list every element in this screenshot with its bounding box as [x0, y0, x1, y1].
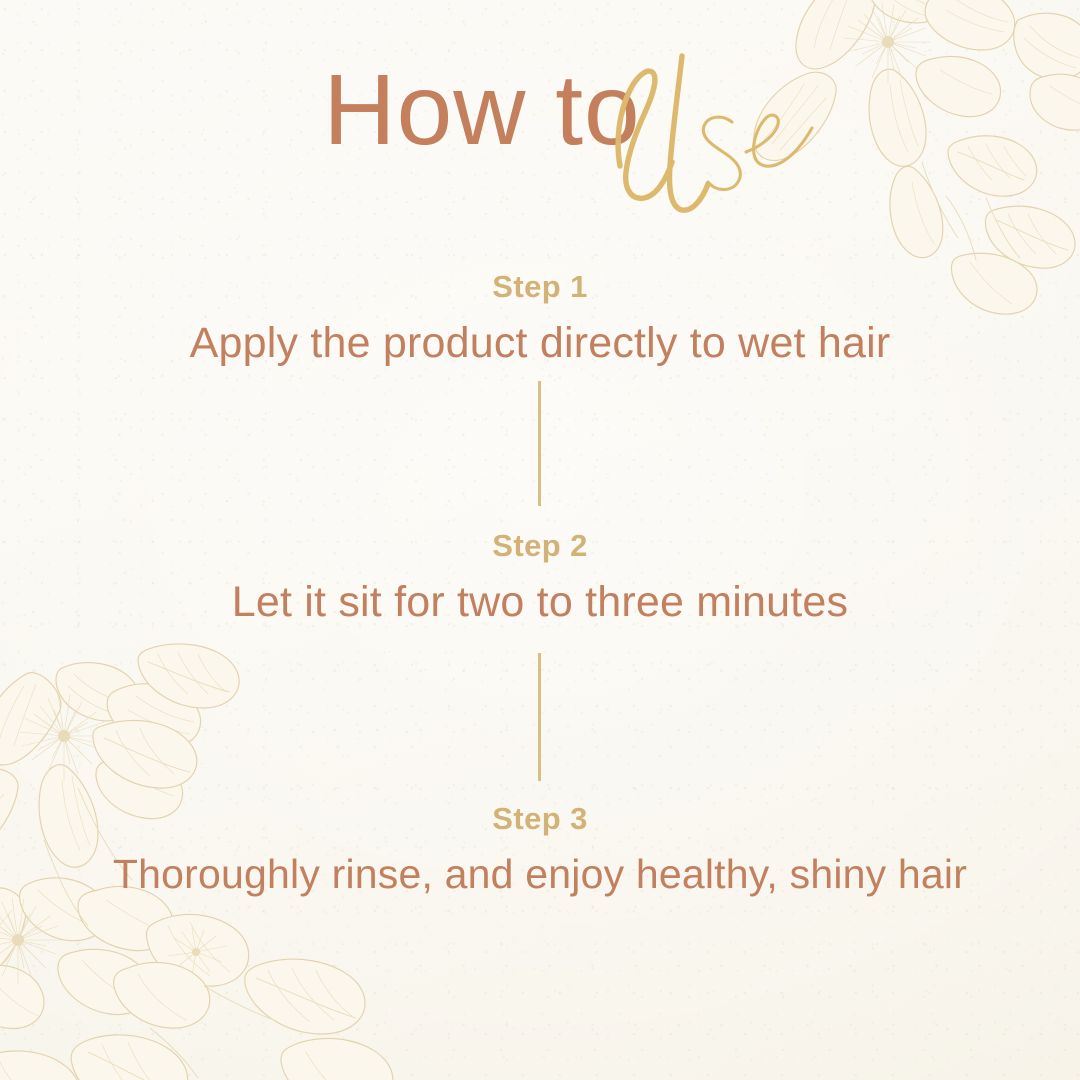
step-1-text: Apply the product directly to wet hair [0, 317, 1080, 369]
step-2-label: Step 2 [0, 527, 1080, 564]
step-2: Step 2 Let it sit for two to three minut… [0, 527, 1080, 629]
step-connector-2 [538, 653, 541, 781]
step-1-label: Step 1 [0, 268, 1080, 305]
page-title-main: How to [0, 58, 1022, 163]
step-1: Step 1 Apply the product directly to wet… [0, 268, 1080, 370]
poster-canvas: How to Step 1 Apply the product directly… [0, 0, 1080, 1080]
step-connector-1 [538, 381, 541, 506]
step-2-text: Let it sit for two to three minutes [0, 576, 1080, 628]
step-3: Step 3 Thoroughly rinse, and enjoy healt… [0, 800, 1080, 899]
page-title-script-use [586, 48, 826, 228]
poster-content: How to Step 1 Apply the product directly… [0, 0, 1080, 1080]
step-3-text: Thoroughly rinse, and enjoy healthy, shi… [0, 849, 1080, 899]
step-3-label: Step 3 [0, 800, 1080, 837]
page-title: How to [0, 58, 1080, 228]
